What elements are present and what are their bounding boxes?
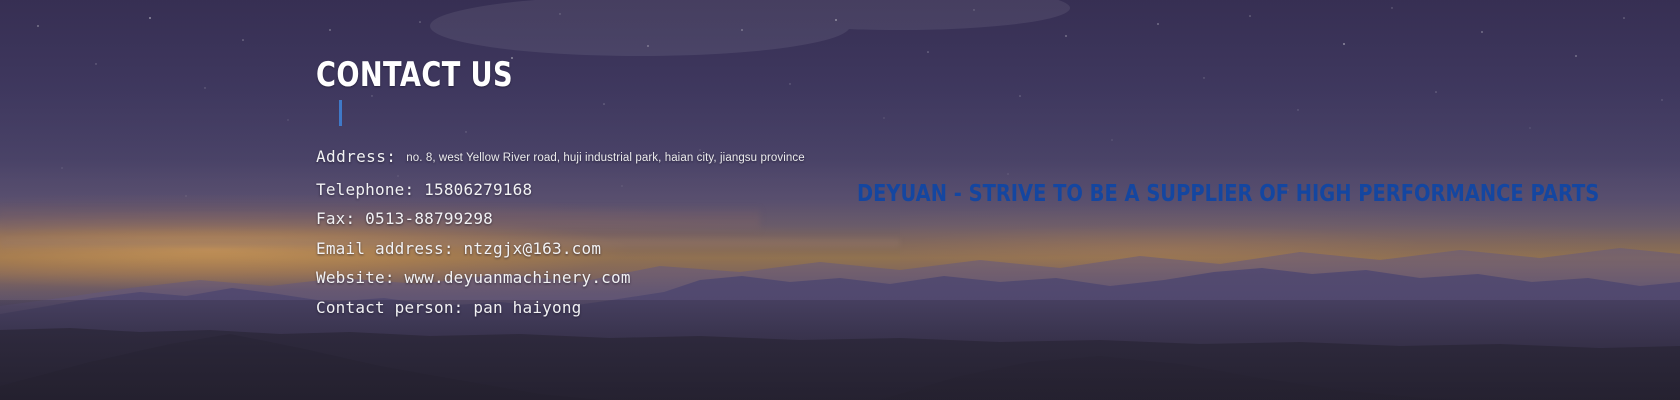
contact-line-website[interactable]: Website: www.deyuanmachinery.com (316, 263, 1076, 293)
address-label: Address: (316, 147, 396, 166)
banner-content: CONTACT US Address:no. 8, west Yellow Ri… (0, 0, 1680, 400)
contact-details-list: Address:no. 8, west Yellow River road, h… (316, 142, 1076, 322)
contact-line-address: Address:no. 8, west Yellow River road, h… (316, 142, 1076, 175)
title-accent-bar (339, 100, 342, 126)
contact-line-fax: Fax: 0513-88799298 (316, 204, 1076, 234)
address-value: no. 8, west Yellow River road, huji indu… (406, 152, 804, 164)
contact-footer-banner: CONTACT US Address:no. 8, west Yellow Ri… (0, 0, 1680, 400)
contact-line-email[interactable]: Email address: ntzgjx@163.com (316, 234, 1076, 264)
contact-line-contact-person: Contact person: pan haiyong (316, 293, 1076, 323)
page-title: CONTACT US (316, 58, 513, 92)
company-tagline: DEYUAN - STRIVE TO BE A SUPPLIER OF HIGH… (857, 183, 1599, 206)
